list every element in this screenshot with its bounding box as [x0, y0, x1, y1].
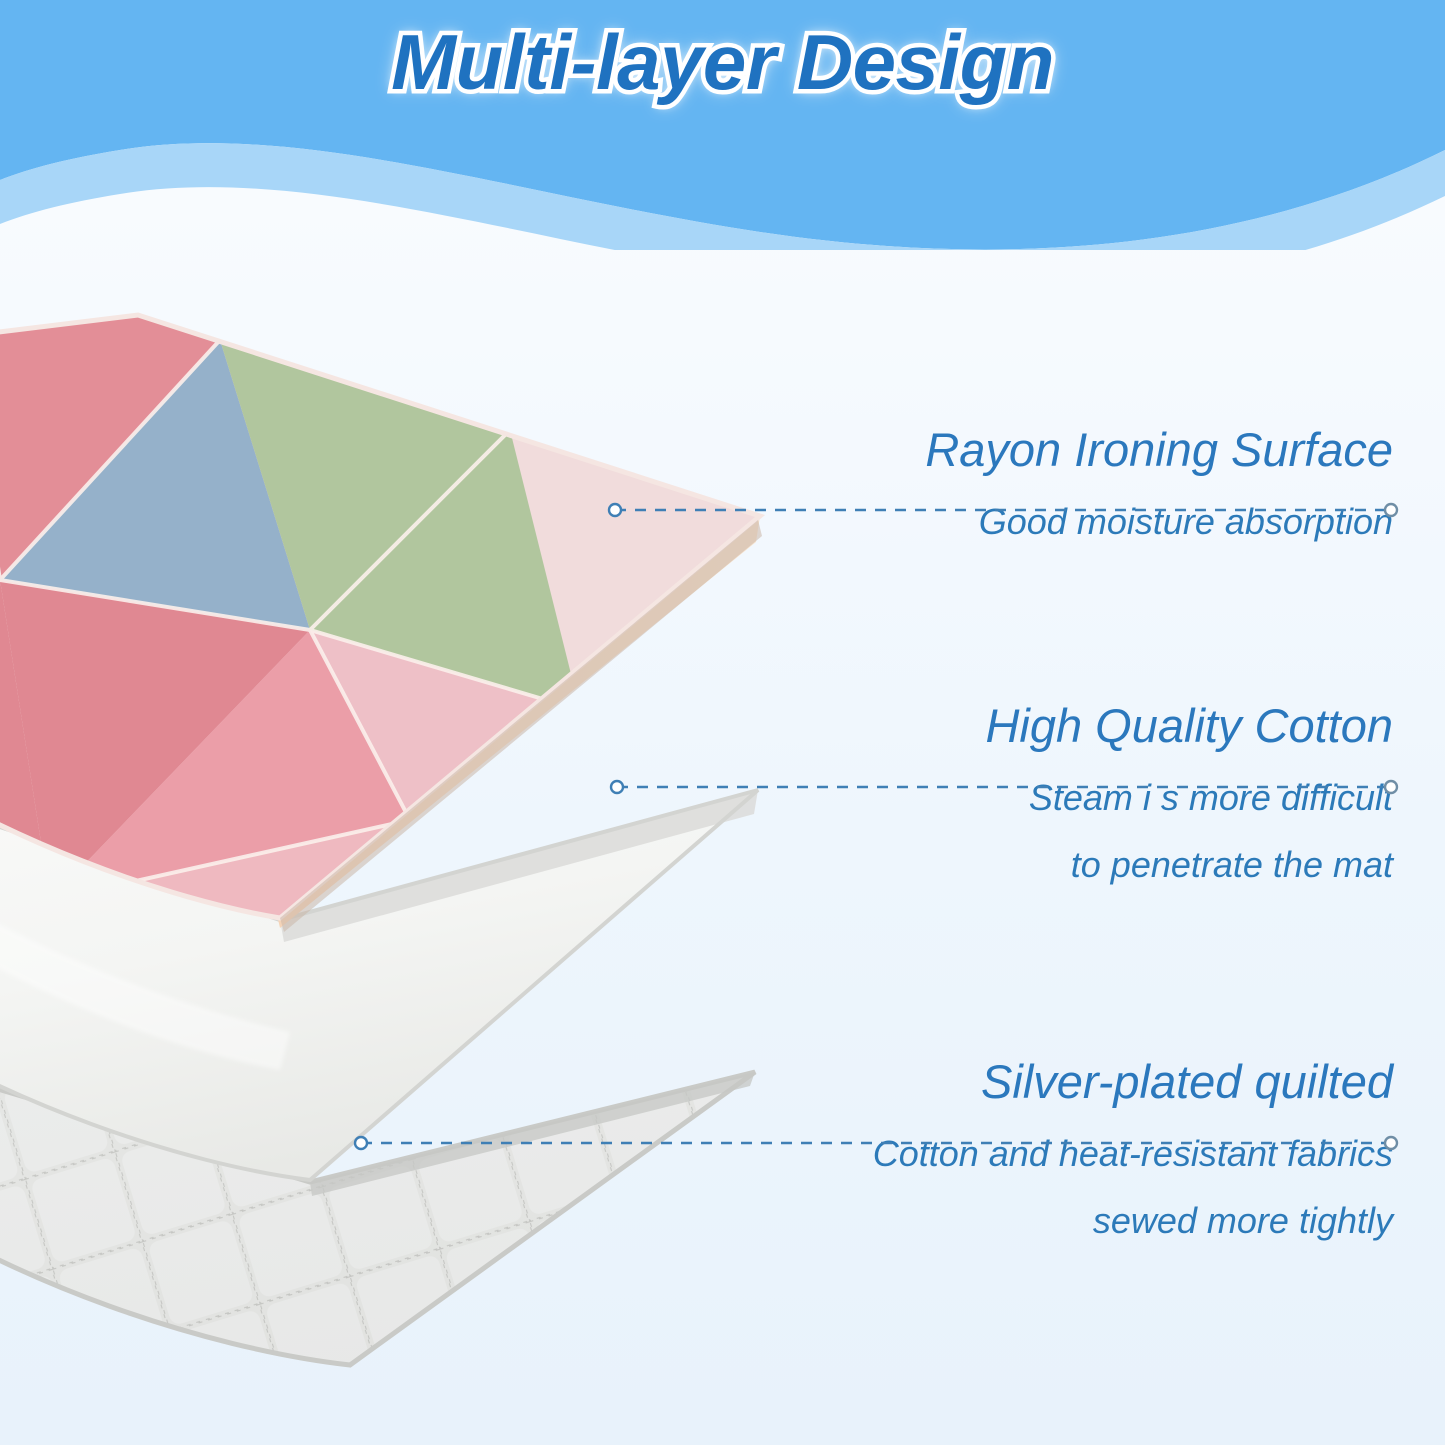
callout-2-body-line-2: to penetrate the mat: [635, 842, 1395, 887]
leader-line-2: [610, 780, 1398, 794]
header-banner: Multi-layer Design: [0, 0, 1445, 250]
infographic-canvas: Multi-layer Design: [0, 0, 1445, 1445]
leader-1-start-marker-icon: [609, 504, 621, 516]
leader-1-end-marker-icon: [1385, 504, 1397, 516]
callout-3-body-line-2: sewed more tightly: [335, 1198, 1395, 1243]
callout-rayon-ironing-surface: Rayon Ironing Surface Good moisture abso…: [635, 424, 1395, 544]
leader-3-start-marker-icon: [355, 1137, 367, 1149]
leader-line-3: [354, 1136, 1398, 1150]
callout-2-heading: High Quality Cotton: [635, 700, 1395, 753]
leader-line-1-svg: [608, 503, 1398, 517]
leader-line-3-svg: [354, 1136, 1398, 1150]
leader-3-end-marker-icon: [1385, 1137, 1397, 1149]
callout-1-heading: Rayon Ironing Surface: [635, 424, 1395, 477]
page-title: Multi-layer Design: [0, 18, 1445, 108]
leader-line-1: [608, 503, 1398, 517]
leader-line-2-svg: [610, 780, 1398, 794]
leader-2-start-marker-icon: [611, 781, 623, 793]
callout-3-heading: Silver-plated quilted: [335, 1056, 1395, 1109]
leader-2-end-marker-icon: [1385, 781, 1397, 793]
